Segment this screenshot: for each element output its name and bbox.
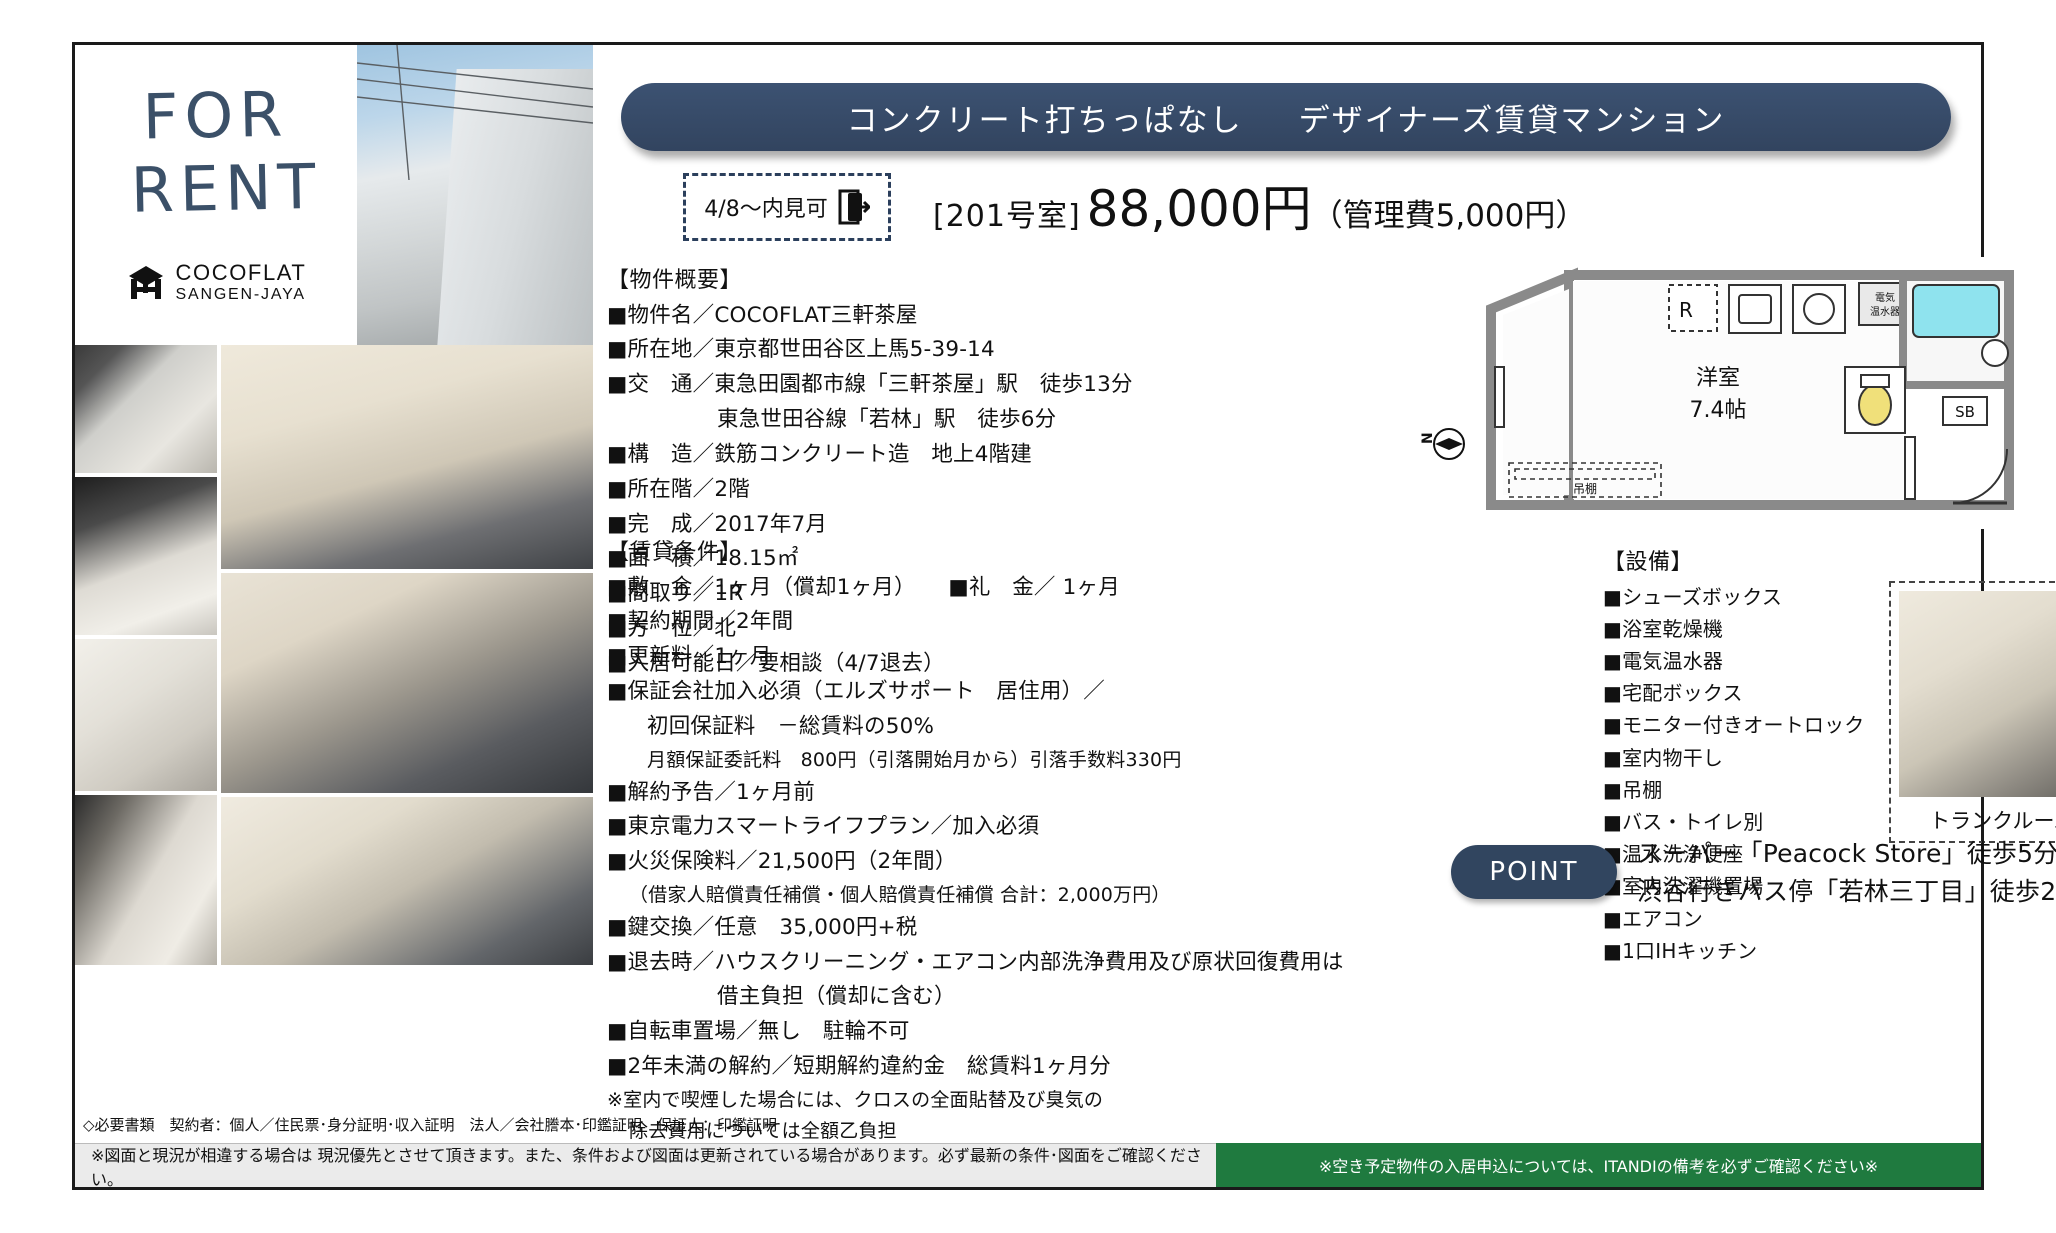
- equipment-item: ■電気温水器: [1603, 645, 1903, 677]
- banner-text-right: デザイナーズ賃貸マンション: [1299, 95, 1726, 140]
- footer-bars: ※図面と現況が相違する場合は 現況優先とさせて頂きます。また、条件および図面は更…: [75, 1143, 1981, 1187]
- condition-item: ■2年未満の解約／短期解約違約金 総賃料1ヶ月分: [607, 1050, 1447, 1085]
- svg-text:N: N: [1420, 432, 1436, 444]
- photo-toilet: [75, 639, 217, 791]
- brand-header: FOR RENT COCOFLAT SANGEN-JAYA: [75, 45, 357, 345]
- for-rent-headline: FOR RENT: [110, 77, 322, 228]
- nearby-item: スーパー「Peacock Store」徒歩5分: [1637, 835, 2056, 873]
- headline-line-2: RENT: [130, 150, 322, 227]
- svg-text:温水器: 温水器: [1870, 306, 1900, 318]
- condition-item: ■更新料／1ヶ月: [607, 640, 1447, 675]
- overview-item: ■物件名／COCOFLAT三軒茶屋: [607, 299, 1307, 334]
- price-row: [201号室] 88,000円 （管理費5,000円）: [933, 169, 1586, 241]
- condition-item: ■敷 金／1ヶ月（償却1ヶ月） ■礼 金／ 1ヶ月: [607, 571, 1447, 606]
- trunk-room-label: トランクルーム: [1899, 805, 2056, 835]
- logo-name: COCOFLAT: [176, 261, 307, 286]
- house-logo-icon: [126, 263, 166, 303]
- footer-disclaimer: ※図面と現況が相違する場合は 現況優先とさせて頂きます。また、条件および図面は更…: [75, 1143, 1216, 1187]
- viewing-availability-box: 4/8〜内見可: [683, 173, 891, 241]
- photo-living-room-3: [221, 797, 593, 965]
- floorplan-room-size: 7.4帖: [1690, 398, 1747, 423]
- photo-kitchen-detail: [75, 345, 217, 473]
- floorplan-switchboard-label: SB: [1955, 403, 1975, 421]
- photo-bathroom: [75, 477, 217, 635]
- power-lines-decoration: [357, 45, 593, 180]
- overview-heading: 【物件概要】: [607, 263, 1307, 299]
- floorplan-diagram: 洋室 7.4帖 R 電気 温水器 W: [1473, 257, 2033, 529]
- headline-line-1: FOR: [142, 77, 289, 153]
- equipment-item: ■宅配ボックス: [1603, 677, 1903, 709]
- equipment-item: ■バス・トイレ別: [1603, 806, 1903, 838]
- overview-item: ■所在地／東京都世田谷区上馬5-39-14: [607, 333, 1307, 368]
- floorplan-fridge-label: R: [1679, 298, 1693, 322]
- svg-text:電気: 電気: [1875, 291, 1895, 304]
- floorplan-room-name: 洋室: [1696, 366, 1740, 391]
- condition-item: ■解約予告／1ヶ月前: [607, 776, 1447, 811]
- photo-living-room-1: [221, 345, 593, 569]
- condition-item: 初回保証料 －総賃料の50%: [607, 710, 1447, 745]
- room-number: [201号室]: [933, 191, 1081, 235]
- trunk-room-box: トランクルーム: [1889, 581, 2056, 843]
- brand-logo: COCOFLAT SANGEN-JAYA: [126, 261, 307, 304]
- condition-item: ■自転車置場／無し 駐輪不可: [607, 1015, 1447, 1050]
- condition-item: 月額保証委託料 800円（引落開始月から）引落手数料330円: [607, 745, 1447, 776]
- footer-green-note: ※空き予定物件の入居申込については、ITANDIの備考を必ずご確認ください※: [1216, 1143, 1981, 1187]
- photo-entrance: [75, 795, 217, 965]
- nearby-info: スーパー「Peacock Store」徒歩5分 渋谷行きバス停「若林三丁目」徒歩…: [1637, 835, 2056, 910]
- floorplan-hanging-shelf-label: 吊棚: [1573, 481, 1597, 496]
- photo-living-room-2: [221, 573, 593, 793]
- right-column: コンクリート打ちっぱなし デザイナーズ賃貸マンション 4/8〜内見可 [201号…: [593, 45, 1981, 1139]
- equipment-item: ■室内物干し: [1603, 742, 1903, 774]
- equipment-heading: 【設備】: [1603, 545, 1903, 581]
- trunk-room-photo: [1899, 591, 2056, 797]
- rental-conditions-block: 【賃貸条件】 ■敷 金／1ヶ月（償却1ヶ月） ■礼 金／ 1ヶ月 ■契約期間／2…: [607, 535, 1447, 1181]
- floorplan-svg: 洋室 7.4帖 R 電気 温水器 W: [1473, 257, 2033, 529]
- flyer-page: FOR RENT COCOFLAT SANGEN-JAYA: [72, 42, 1984, 1190]
- condition-item: ■東京電力スマートライフプラン／加入必須: [607, 810, 1447, 845]
- point-badge: POINT: [1451, 845, 1617, 899]
- condition-item: ■契約期間／2年間: [607, 605, 1447, 640]
- viewing-label: 4/8〜内見可: [704, 191, 827, 223]
- required-documents-note: ◇必要書類 契約者：個人／住民票･身分証明･収入証明 法人／会社謄本･印鑑証明 …: [83, 1114, 777, 1135]
- nearby-item: 渋谷行きバス停「若林三丁目」徒歩2分: [1637, 873, 2056, 911]
- conditions-heading: 【賃貸条件】: [607, 535, 1447, 571]
- condition-item: ■火災保険料／21,500円（2年間）: [607, 845, 1447, 880]
- building-exterior-photo: [357, 45, 593, 345]
- condition-item: ※室内で喫煙した場合には、クロスの全面貼替及び臭気の: [607, 1085, 1447, 1116]
- interior-photo-grid: [75, 345, 593, 1139]
- equipment-item: ■吊棚: [1603, 774, 1903, 806]
- condition-item: ■退去時／ハウスクリーニング・エアコン内部洗浄費用及び原状回復費用は: [607, 946, 1447, 981]
- condition-item: 借主負担（償却に含む）: [607, 980, 1447, 1015]
- condition-item: ■保証会社加入必須（エルズサポート 居住用）／: [607, 675, 1447, 710]
- banner-text-left: コンクリート打ちっぱなし: [847, 95, 1243, 140]
- overview-item: ■構 造／鉄筋コンクリート造 地上4階建: [607, 438, 1307, 473]
- equipment-item: ■1口IHキッチン: [1603, 935, 1903, 967]
- overview-item: ■交 通／東急田園都市線「三軒茶屋」駅 徒歩13分: [607, 368, 1307, 403]
- management-fee: （管理費5,000円）: [1312, 190, 1587, 235]
- compass-north-icon: N: [1413, 423, 1471, 465]
- point-badge-label: POINT: [1489, 857, 1578, 887]
- left-column: FOR RENT COCOFLAT SANGEN-JAYA: [75, 45, 593, 1187]
- door-exit-icon: [836, 187, 870, 227]
- equipment-item: ■モニター付きオートロック: [1603, 709, 1903, 741]
- title-banner: コンクリート打ちっぱなし デザイナーズ賃貸マンション: [621, 83, 1951, 151]
- equipment-item: ■浴室乾燥機: [1603, 613, 1903, 645]
- equipment-item: ■シューズボックス: [1603, 581, 1903, 613]
- rent-amount: 88,000円: [1087, 169, 1312, 241]
- overview-item: ■所在階／2階: [607, 473, 1307, 508]
- logo-sub: SANGEN-JAYA: [176, 286, 307, 304]
- condition-item: （借家人賠償責任補償・個人賠償責任補償 合計：2,000万円）: [607, 880, 1447, 911]
- condition-item: ■鍵交換／任意 35,000円+税: [607, 911, 1447, 946]
- overview-item: 東急世田谷線「若林」駅 徒歩6分: [607, 403, 1307, 438]
